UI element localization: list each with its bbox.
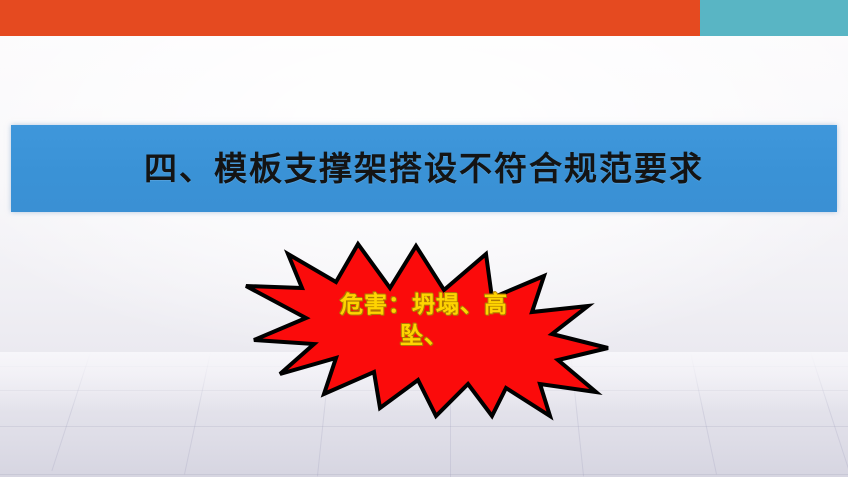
top-bar-teal-segment — [700, 0, 848, 36]
section-title-banner: 四、模板支撑架搭设不符合规范要求 — [11, 125, 837, 212]
top-color-bar — [0, 0, 848, 36]
page-title: 四、模板支撑架搭设不符合规范要求 — [144, 152, 704, 185]
top-bar-orange-segment — [0, 0, 700, 36]
hazard-starburst-callout: 危害：坍塌、高 坠、 — [240, 244, 608, 416]
starburst-shape-icon — [240, 244, 608, 416]
slide-canvas: 四、模板支撑架搭设不符合规范要求 危害：坍塌、高 坠、 — [0, 0, 848, 477]
